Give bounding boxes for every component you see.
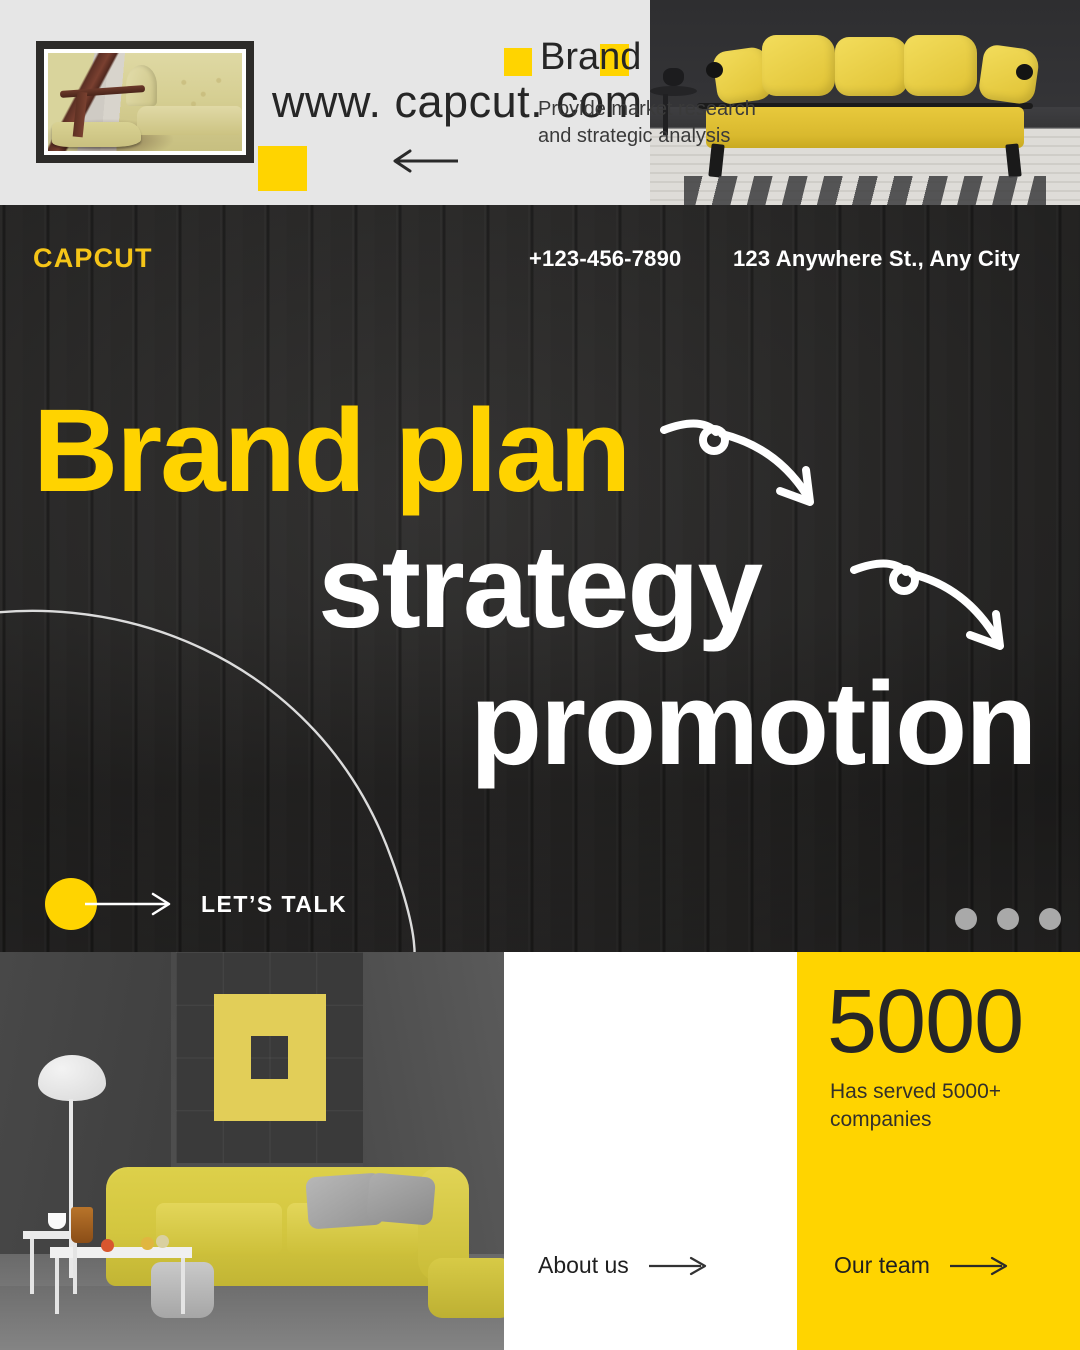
armchair-sofa-photo bbox=[48, 53, 242, 151]
art-tile bbox=[251, 1079, 288, 1121]
gray-pillow-2 bbox=[366, 1172, 435, 1225]
art-tile bbox=[288, 994, 325, 1036]
brand-card-title: Brand bbox=[540, 36, 641, 79]
pillow-3 bbox=[835, 37, 908, 96]
photo-sofa-cushion bbox=[137, 106, 242, 135]
coffee-table-top bbox=[50, 1247, 191, 1259]
side-table-top bbox=[23, 1231, 78, 1239]
table-leg bbox=[30, 1239, 34, 1295]
carousel-dots[interactable] bbox=[955, 908, 1061, 930]
carousel-dot-2[interactable] bbox=[997, 908, 1019, 930]
pillow-4 bbox=[904, 35, 977, 97]
coffee-cup bbox=[48, 1213, 66, 1229]
art-tile bbox=[214, 994, 251, 1036]
framed-photo bbox=[36, 41, 254, 163]
wall-art-tiles bbox=[176, 952, 362, 1163]
curved-looping-arrow-icon-2 bbox=[850, 556, 1030, 666]
our-team-label: Our team bbox=[834, 1252, 930, 1279]
art-tile bbox=[214, 1036, 251, 1078]
table-leg bbox=[55, 1258, 59, 1314]
side-table bbox=[650, 86, 697, 96]
brand-info-card bbox=[504, 952, 797, 1350]
curved-looping-arrow-icon bbox=[660, 418, 840, 518]
floor-shadow bbox=[684, 176, 1045, 205]
poster-canvas: www. capcut. com CAPCUT bbox=[0, 0, 1080, 1350]
our-team-link[interactable]: Our team bbox=[834, 1252, 1010, 1279]
right-arrow-icon bbox=[649, 1256, 709, 1276]
art-tile bbox=[288, 1079, 325, 1121]
art-tile bbox=[214, 1079, 251, 1121]
yellow-pouf bbox=[428, 1258, 504, 1318]
left-arrow-icon[interactable] bbox=[390, 148, 460, 174]
brand-card-description: Provide market research and strategic an… bbox=[538, 96, 790, 149]
lets-talk-button[interactable]: LET’S TALK bbox=[45, 878, 347, 930]
right-arrow-icon bbox=[950, 1256, 1010, 1276]
apple bbox=[101, 1239, 114, 1253]
table-leg bbox=[181, 1258, 185, 1314]
photo-mat bbox=[44, 49, 246, 155]
brand-logo: CAPCUT bbox=[33, 243, 153, 274]
stat-caption: Has served 5000+ companies bbox=[830, 1078, 1060, 1135]
yellow-square-medium bbox=[258, 146, 307, 191]
stat-number: 5000 bbox=[827, 980, 1023, 1066]
pillow-2 bbox=[762, 35, 835, 97]
about-us-link[interactable]: About us bbox=[538, 1252, 709, 1279]
right-arrow-icon bbox=[83, 891, 175, 917]
table-leg bbox=[73, 1239, 77, 1295]
contact-phone[interactable]: +123-456-7890 bbox=[529, 246, 681, 272]
vase bbox=[663, 68, 685, 86]
living-room-photo bbox=[0, 952, 504, 1350]
armrest-knob-left bbox=[706, 62, 723, 78]
art-tile bbox=[288, 1036, 325, 1078]
about-us-label: About us bbox=[538, 1252, 629, 1279]
floor-lamp-shade bbox=[38, 1055, 106, 1101]
yellow-chip-accent bbox=[504, 48, 532, 76]
contact-address: 123 Anywhere St., Any City bbox=[733, 246, 1020, 272]
carousel-dot-3[interactable] bbox=[1039, 908, 1061, 930]
lets-talk-label: LET’S TALK bbox=[201, 891, 347, 918]
carousel-dot-1[interactable] bbox=[955, 908, 977, 930]
art-tile bbox=[251, 994, 288, 1036]
armrest-knob-right bbox=[1016, 64, 1033, 80]
photo-chair-seat bbox=[52, 122, 141, 147]
amber-jug bbox=[71, 1207, 94, 1243]
